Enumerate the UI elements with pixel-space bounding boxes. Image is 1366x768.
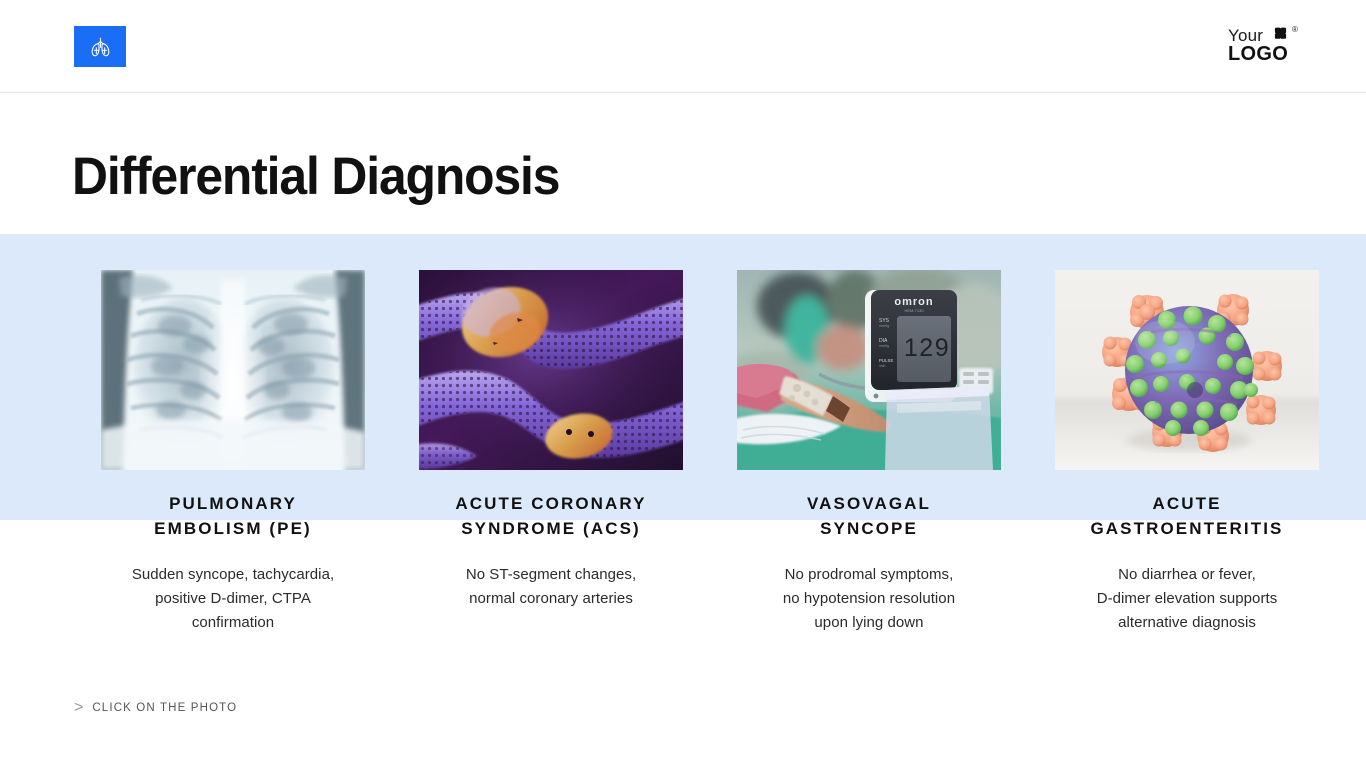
slide-header: Your ® LOGO (0, 0, 1366, 93)
clover-glyph-icon (1272, 27, 1289, 43)
card-title: ACUTE CORONARY SYNDROME (ACS) (392, 491, 710, 541)
diagnosis-card: ACUTE CORONARY SYNDROME (ACS) No ST-segm… (392, 234, 710, 611)
svg-text:HEM-7130: HEM-7130 (904, 308, 924, 313)
monitor-brand-label: omron (894, 296, 933, 308)
card-title: ACUTE GASTROENTERITIS (1028, 491, 1346, 541)
svg-text:mmHg: mmHg (879, 324, 889, 328)
slide-root: Your ® LOGO Differential Diagnosis (0, 0, 1366, 768)
card-body: Sudden syncope, tachycardia, positive D-… (74, 563, 392, 635)
card-body: No prodromal symptoms, no hypotension re… (710, 563, 1028, 635)
lungs-icon (74, 26, 126, 67)
page-title: Differential Diagnosis (72, 146, 559, 208)
card-title: PULMONARY EMBOLISM (PE) (74, 491, 392, 541)
chest-xray-photo[interactable] (101, 270, 365, 470)
diagnosis-card: ACUTE GASTROENTERITIS No diarrhea or fev… (1028, 234, 1346, 635)
coronary-artery-plaque-photo[interactable] (419, 270, 683, 470)
click-hint-label: CLICK ON THE PHOTO (92, 701, 237, 715)
logo-line2: LOGO (1228, 43, 1288, 66)
svg-text:/min: /min (879, 364, 886, 368)
click-hint: > CLICK ON THE PHOTO (74, 700, 237, 716)
svg-text:PULSE: PULSE (879, 358, 893, 363)
card-body: No diarrhea or fever, D-dimer elevation … (1028, 563, 1346, 635)
your-logo: Your ® LOGO (1228, 26, 1306, 68)
registered-mark: ® (1292, 25, 1298, 34)
virus-model-photo[interactable] (1055, 270, 1319, 470)
monitor-reading-value: 129 (904, 334, 950, 362)
blood-pressure-monitor-photo[interactable]: omron HEM-7130 129 SYSmmHg DIAmmHg PULSE… (737, 270, 1001, 470)
diagnosis-card: omron HEM-7130 129 SYSmmHg DIAmmHg PULSE… (710, 234, 1028, 635)
chevron-right-icon: > (74, 700, 83, 716)
card-body: No ST-segment changes, normal coronary a… (392, 563, 710, 611)
svg-text:mmHg: mmHg (879, 344, 889, 348)
diagnosis-card-list: PULMONARY EMBOLISM (PE) Sudden syncope, … (0, 234, 1366, 654)
diagnosis-card: PULMONARY EMBOLISM (PE) Sudden syncope, … (74, 234, 392, 635)
card-title: VASOVAGAL SYNCOPE (710, 491, 1028, 541)
